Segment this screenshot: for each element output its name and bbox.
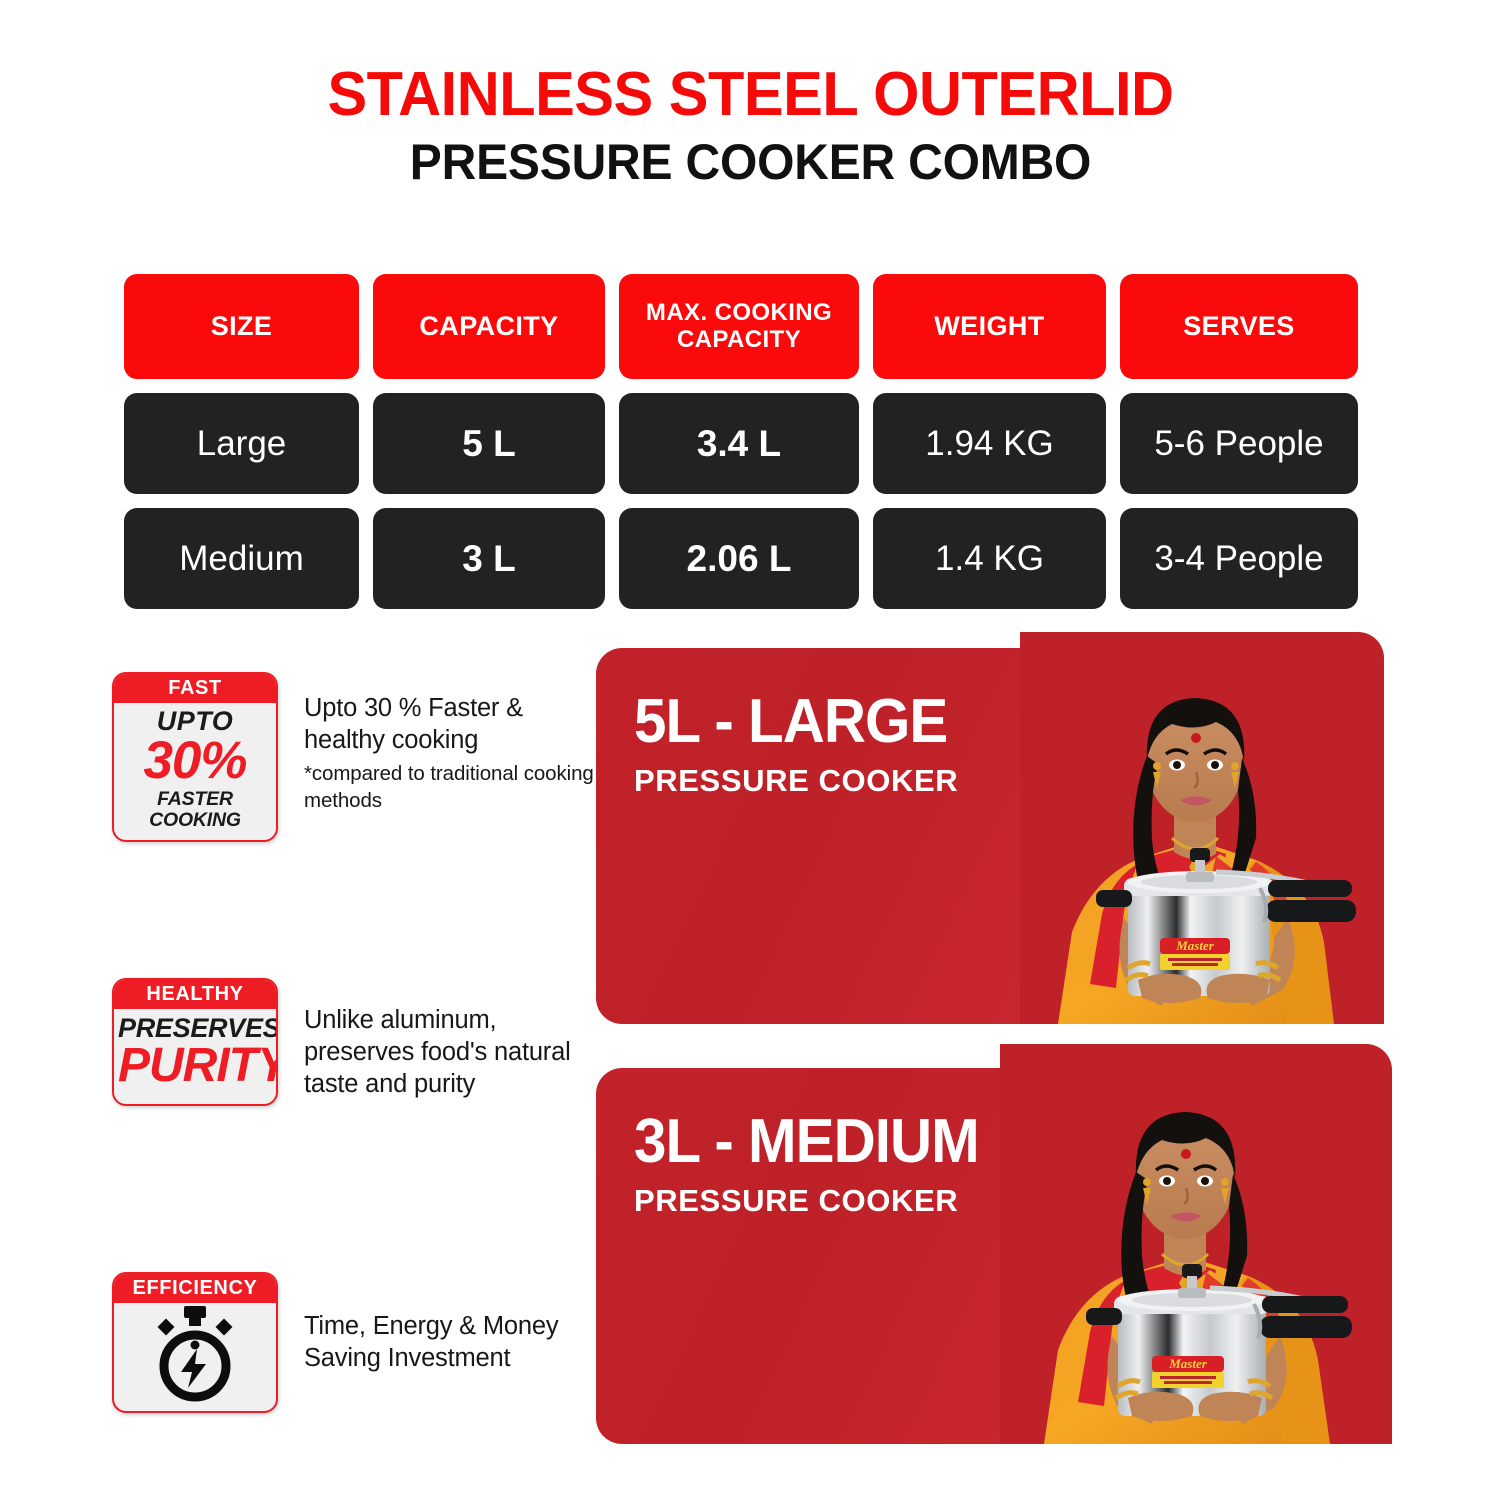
efficiency-badge: EFFICIENCY	[112, 1272, 278, 1413]
column-header-weight: WEIGHT	[873, 274, 1106, 379]
title-line-secondary: PRESSURE COOKER COMBO	[30, 134, 1471, 190]
cell-value: 3.4 L	[697, 423, 781, 465]
badge-upto-label: PRESERVES	[118, 1014, 272, 1042]
cell-value: 2.06 L	[687, 538, 792, 580]
page-title: STAINLESS STEEL OUTERLID PRESSURE COOKER…	[0, 62, 1501, 190]
product-card-size-label: 3L - MEDIUM	[634, 1112, 979, 1173]
badge-value-label: 30%	[118, 735, 272, 787]
cell-capacity: 5 L	[373, 393, 605, 494]
badge-body: UPTO 30% FASTER COOKING	[114, 703, 276, 840]
spec-table: SIZE CAPACITY MAX. COOKING CAPACITY WEIG…	[124, 274, 1378, 609]
feature-efficiency: EFFICIENCY Time, Energy & Money Saving I…	[112, 1272, 594, 1413]
cell-value: 1.4 KG	[935, 539, 1044, 579]
feature-healthy: HEALTHY PRESERVES PURITY Unlike aluminum…	[112, 978, 609, 1106]
badge-head-label: FAST	[114, 674, 276, 703]
column-header-label: SERVES	[1183, 311, 1294, 341]
cell-value: 5-6 People	[1154, 424, 1323, 464]
table-row: Large 5 L 3.4 L 1.94 KG 5-6 People	[124, 393, 1378, 494]
purity-badge-icon: HEALTHY PRESERVES PURITY	[112, 978, 278, 1106]
column-header-label: MAX. COOKING CAPACITY	[646, 300, 832, 354]
cell-value: Medium	[179, 539, 303, 579]
table-header-row: SIZE CAPACITY MAX. COOKING CAPACITY WEIG…	[124, 274, 1378, 379]
badge-body: PRESERVES PURITY	[114, 1009, 276, 1104]
cell-serves: 3-4 People	[1120, 508, 1358, 609]
cell-value: 5 L	[462, 423, 515, 465]
cell-capacity: 3 L	[373, 508, 605, 609]
stopwatch-lightning-icon	[147, 1304, 243, 1409]
cell-max-cooking-capacity: 3.4 L	[619, 393, 859, 494]
badge-body	[114, 1303, 276, 1411]
cell-size: Large	[124, 393, 359, 494]
feature-text: Unlike aluminum, preserves food's natura…	[304, 978, 609, 1100]
cell-weight: 1.94 KG	[873, 393, 1106, 494]
product-card-5l[interactable]: 5L - LARGE PRESSURE COOKER	[596, 648, 1378, 1024]
product-card-title: 3L - MEDIUM PRESSURE COOKER	[634, 1112, 1001, 1219]
feature-main-text: Upto 30 % Faster & healthy cooking	[304, 692, 604, 756]
cell-value: 3 L	[462, 538, 515, 580]
feature-main-text: Time, Energy & Money Saving Investment	[304, 1310, 594, 1374]
column-header-label-line2: CAPACITY	[677, 326, 801, 353]
cell-serves: 5-6 People	[1120, 393, 1358, 494]
column-header-size: SIZE	[124, 274, 359, 379]
badge-head-label: HEALTHY	[114, 980, 276, 1009]
badge-foot-label: FASTER COOKING	[118, 789, 272, 832]
cell-value: 1.94 KG	[925, 424, 1053, 464]
cell-size: Medium	[124, 508, 359, 609]
product-card-title: 5L - LARGE PRESSURE COOKER	[634, 692, 967, 799]
cell-value: 3-4 People	[1154, 539, 1323, 579]
feature-main-text: Unlike aluminum, preserves food's natura…	[304, 1004, 609, 1100]
feature-fast: FAST UPTO 30% FASTER COOKING Upto 30 % F…	[112, 672, 604, 842]
column-header-label: CAPACITY	[419, 311, 558, 341]
product-card-subtitle: PRESSURE COOKER	[634, 763, 967, 799]
badge-head-label: EFFICIENCY	[114, 1274, 276, 1303]
cell-weight: 1.4 KG	[873, 508, 1106, 609]
cell-max-cooking-capacity: 2.06 L	[619, 508, 859, 609]
column-header-max-cooking-capacity: MAX. COOKING CAPACITY	[619, 274, 859, 379]
product-card-size-label: 5L - LARGE	[634, 692, 947, 753]
feature-text: Upto 30 % Faster & healthy cooking *comp…	[304, 672, 604, 814]
badge-value-label: PURITY	[118, 1042, 272, 1090]
column-header-label: SIZE	[211, 311, 273, 341]
feature-sub-text: *compared to traditional cooking methods	[304, 760, 604, 814]
column-header-label-line1: MAX. COOKING	[646, 299, 832, 326]
column-header-capacity: CAPACITY	[373, 274, 605, 379]
fast-badge-icon: FAST UPTO 30% FASTER COOKING	[112, 672, 278, 842]
product-card-3l[interactable]: 3L - MEDIUM PRESSURE COOKER	[596, 1068, 1378, 1444]
title-line-primary: STAINLESS STEEL OUTERLID	[30, 62, 1471, 128]
column-header-label: WEIGHT	[934, 311, 1044, 341]
table-row: Medium 3 L 2.06 L 1.4 KG 3-4 People	[124, 508, 1378, 609]
cell-value: Large	[197, 424, 287, 464]
product-card-subtitle: PRESSURE COOKER	[634, 1183, 1001, 1219]
column-header-serves: SERVES	[1120, 274, 1358, 379]
feature-text: Time, Energy & Money Saving Investment	[304, 1272, 594, 1374]
